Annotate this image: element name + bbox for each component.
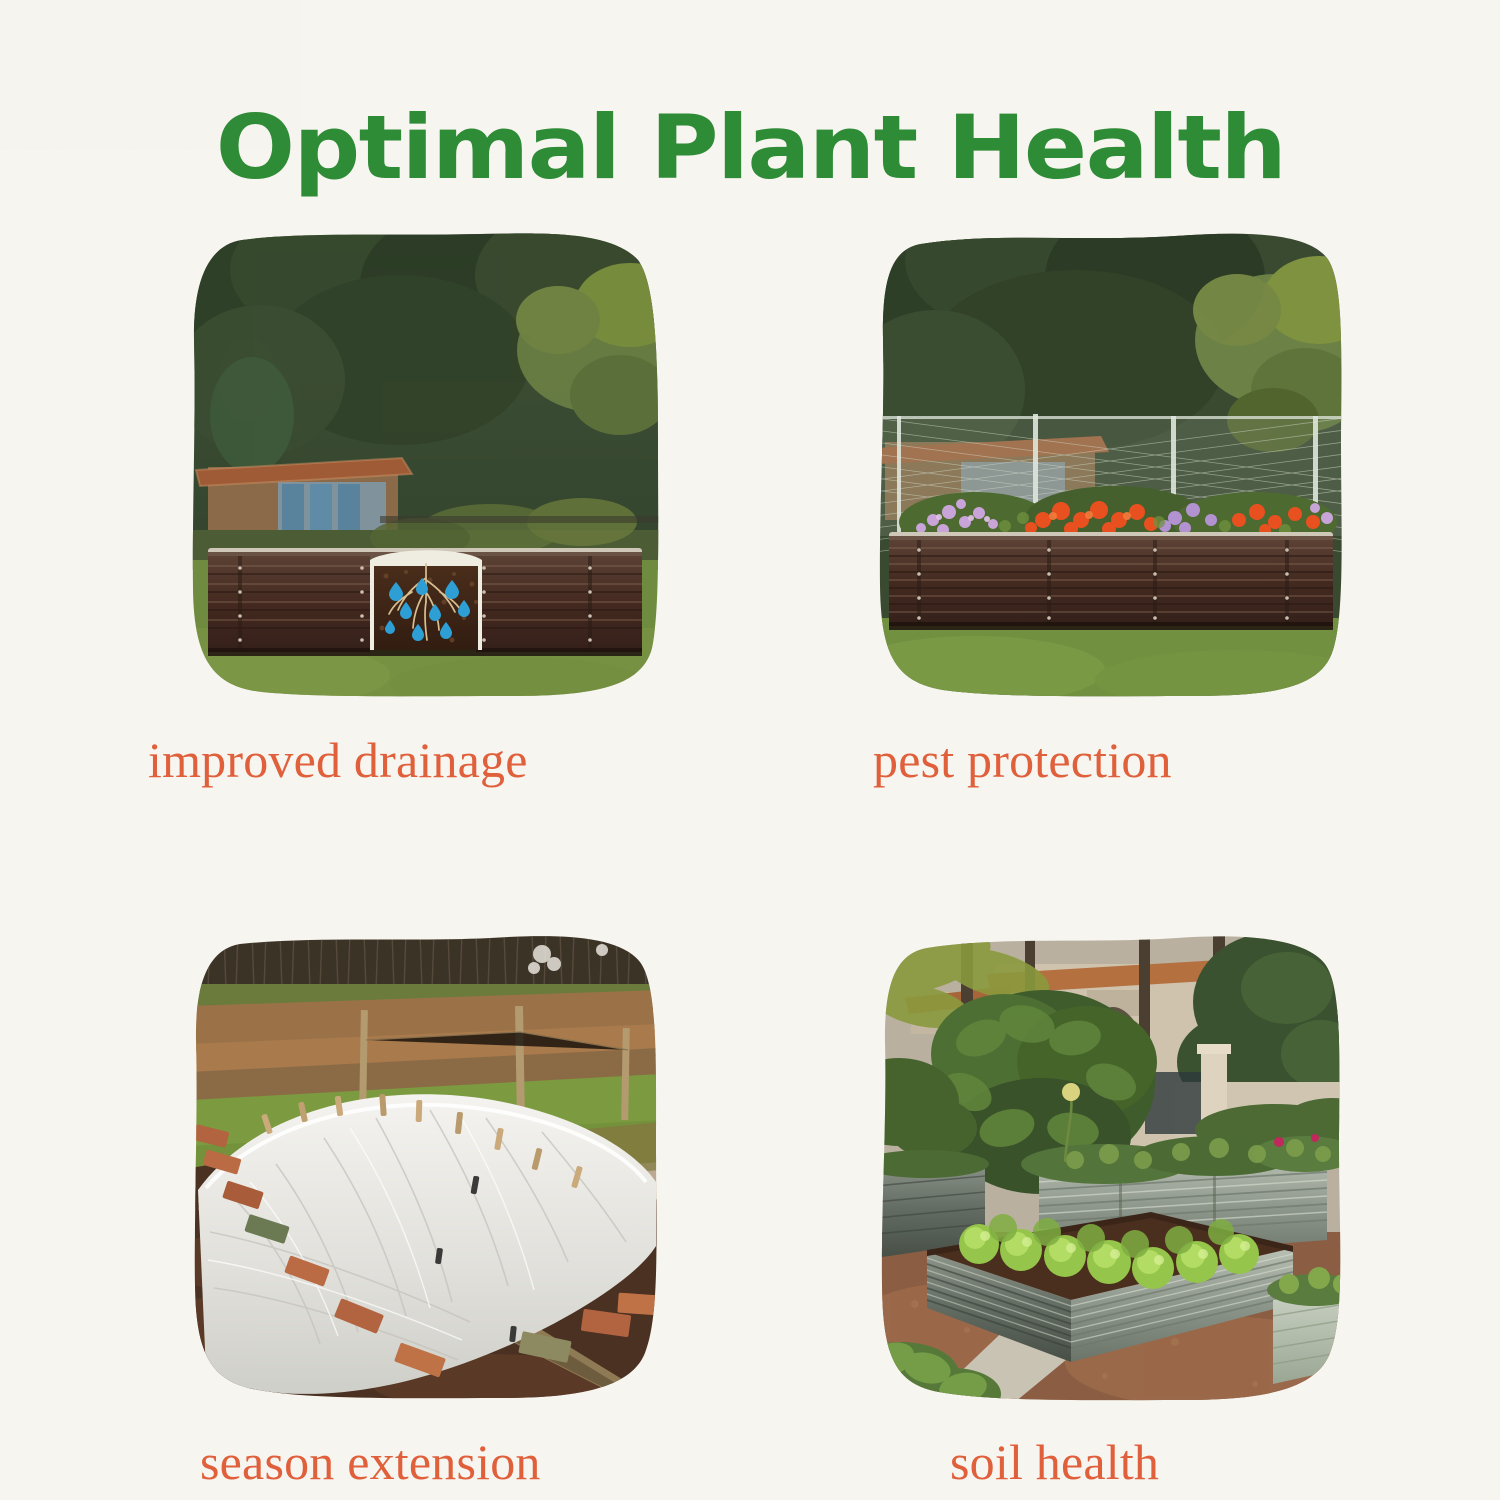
page-title: Optimal Plant Health [215, 104, 1284, 192]
feature-caption-pest-protection: pest protection [873, 734, 1500, 787]
feature-caption-soil-health: soil health [950, 1436, 1500, 1489]
feature-row-bottom: season extension [0, 932, 1500, 1489]
photo-season-extension [190, 932, 660, 1402]
photo-improved-drainage [190, 230, 660, 700]
feature-caption-season-extension: season extension [200, 1436, 750, 1489]
feature-cell-improved-drainage: improved drainage [0, 230, 750, 787]
photo-soil-health [875, 932, 1345, 1402]
feature-cell-pest-protection: pest protection [750, 230, 1500, 787]
infographic-page: Optimal Plant Health [0, 0, 1500, 1500]
feature-cell-soil-health: soil health [750, 932, 1500, 1489]
feature-caption-improved-drainage: improved drainage [148, 734, 750, 787]
feature-cell-season-extension: season extension [0, 932, 750, 1489]
page-title-container: Optimal Plant Health [0, 96, 1500, 200]
photo-pest-protection [875, 230, 1345, 700]
feature-row-top: improved drainage [0, 230, 1500, 787]
feature-grid: improved drainage [0, 230, 1500, 1488]
